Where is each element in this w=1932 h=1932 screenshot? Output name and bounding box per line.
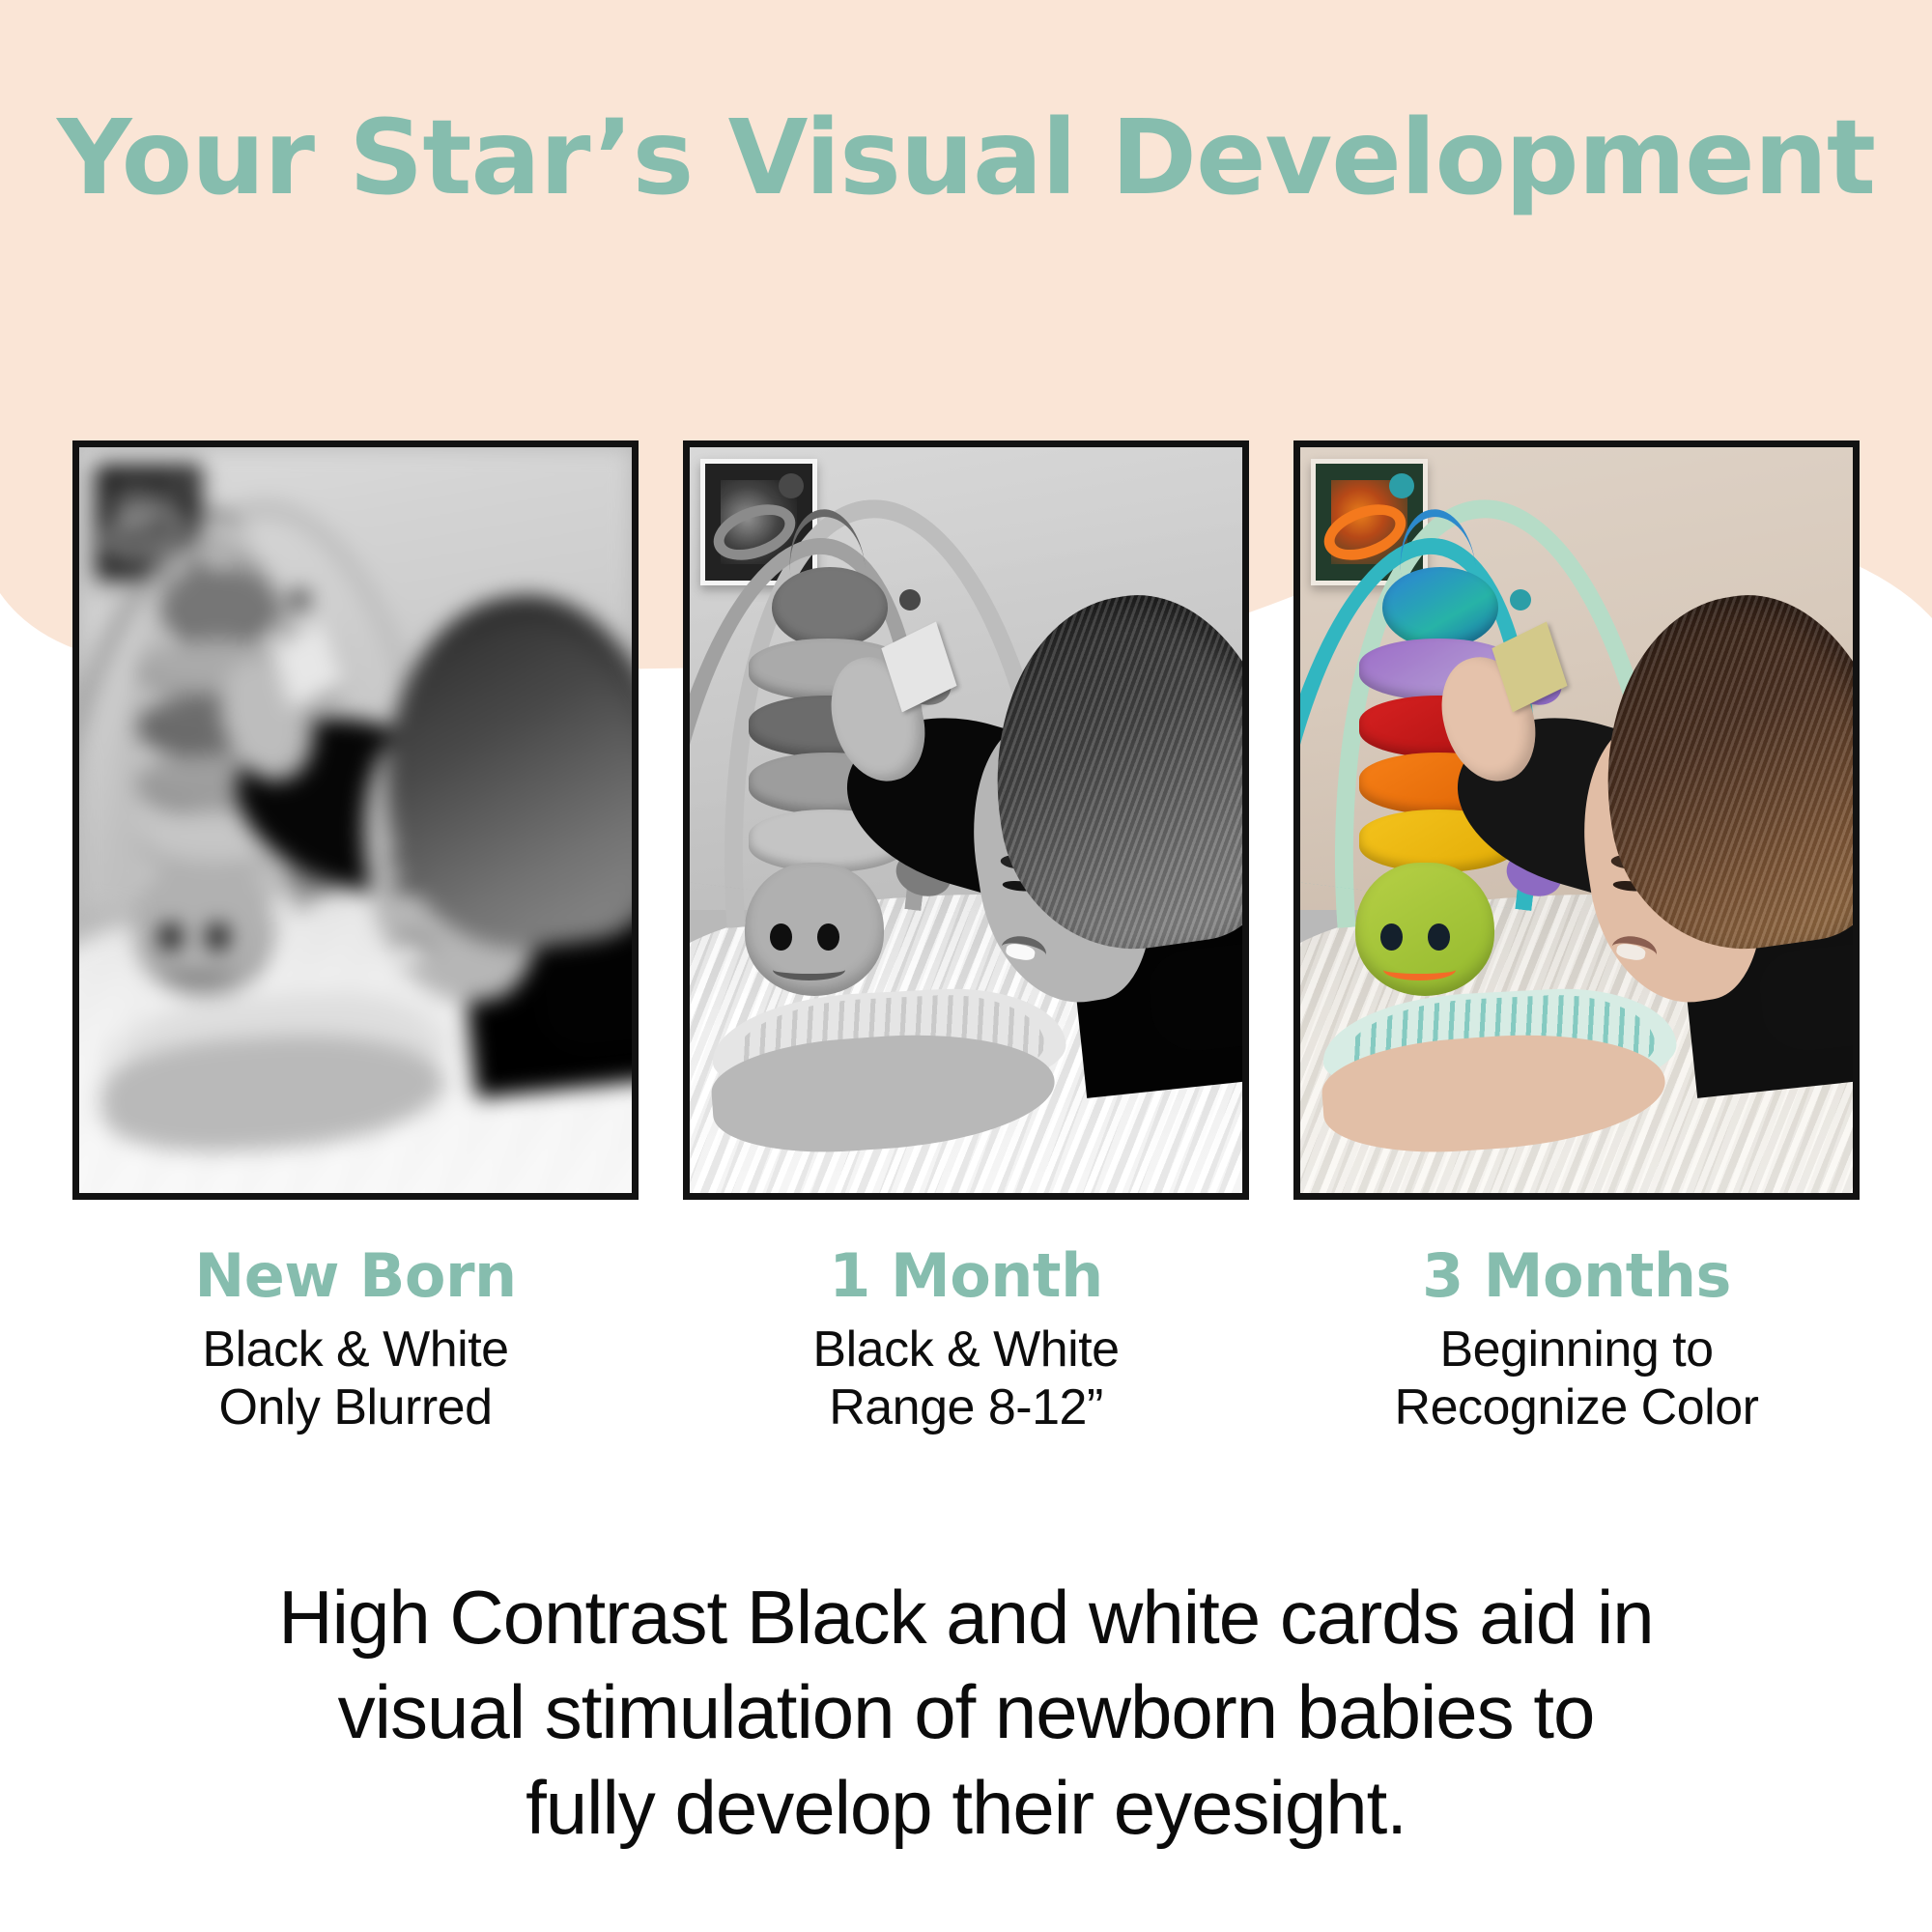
- adult-head: [977, 596, 1242, 1059]
- toy-mouth: [773, 958, 845, 980]
- visual-development-infographic: Your Star’s Visual Development: [0, 0, 1932, 1932]
- adult-head: [1587, 596, 1853, 1059]
- footer-note-line: High Contrast Black and white cards aid …: [106, 1570, 1826, 1664]
- caption-three-months: 3 Months Beginning to Recognize Color: [1293, 1244, 1860, 1437]
- toy-head: [745, 863, 884, 996]
- toy-eye: [817, 923, 839, 951]
- stage-desc-line: Recognize Color: [1293, 1378, 1860, 1436]
- stage-desc-newborn: Black & White Only Blurred: [72, 1321, 639, 1437]
- arch-bead: [779, 473, 804, 498]
- stage-label-three-months: 3 Months: [1293, 1244, 1860, 1307]
- adult-head: [366, 596, 632, 1059]
- caption-row: New Born Black & White Only Blurred 1 Mo…: [72, 1244, 1860, 1437]
- adult-smile: [999, 932, 1048, 969]
- stage-desc-line: Only Blurred: [72, 1378, 639, 1436]
- stage-desc-line: Black & White: [683, 1321, 1249, 1378]
- scene-newborn: [79, 447, 632, 1193]
- toy-segment: [161, 567, 278, 648]
- footer-note: High Contrast Black and white cards aid …: [106, 1570, 1826, 1855]
- stage-desc-three-months: Beginning to Recognize Color: [1293, 1321, 1860, 1437]
- arch-bead: [168, 473, 193, 498]
- photo-inner-one-month: [690, 447, 1242, 1193]
- stage-label-newborn: New Born: [72, 1244, 639, 1307]
- stage-desc-one-month: Black & White Range 8-12”: [683, 1321, 1249, 1437]
- photo-inner-newborn: [79, 447, 632, 1193]
- toy-mouth: [162, 958, 235, 980]
- toy-segment: [772, 567, 889, 648]
- toy-head: [134, 863, 273, 996]
- caption-one-month: 1 Month Black & White Range 8-12”: [683, 1244, 1249, 1437]
- photo-three-months-vision: [1293, 440, 1860, 1200]
- toy-eye: [770, 923, 792, 951]
- scene-one-month: [690, 447, 1242, 1193]
- page-title: Your Star’s Visual Development: [0, 104, 1932, 213]
- toy-eye: [207, 923, 229, 951]
- photo-row: [72, 440, 1860, 1200]
- photo-one-month-vision: [683, 440, 1249, 1200]
- toy-eye: [1380, 923, 1403, 951]
- footer-note-line: visual stimulation of newborn babies to: [106, 1664, 1826, 1759]
- arch-bead: [1389, 473, 1414, 498]
- toy-head: [1355, 863, 1494, 996]
- toy-mouth: [1383, 958, 1456, 980]
- photo-newborn-vision: [72, 440, 639, 1200]
- stage-desc-line: Beginning to: [1293, 1321, 1860, 1378]
- caption-newborn: New Born Black & White Only Blurred: [72, 1244, 639, 1437]
- photo-inner-three-months: [1300, 447, 1853, 1193]
- stage-desc-line: Range 8-12”: [683, 1378, 1249, 1436]
- toy-eye: [1428, 923, 1450, 951]
- toy-eye: [159, 923, 182, 951]
- adult-smile: [388, 932, 438, 969]
- footer-note-line: fully develop their eyesight.: [106, 1760, 1826, 1855]
- stage-label-one-month: 1 Month: [683, 1244, 1249, 1307]
- scene-three-months: [1300, 447, 1853, 1193]
- stage-desc-line: Black & White: [72, 1321, 639, 1378]
- toy-segment: [1382, 567, 1499, 648]
- adult-smile: [1609, 932, 1659, 969]
